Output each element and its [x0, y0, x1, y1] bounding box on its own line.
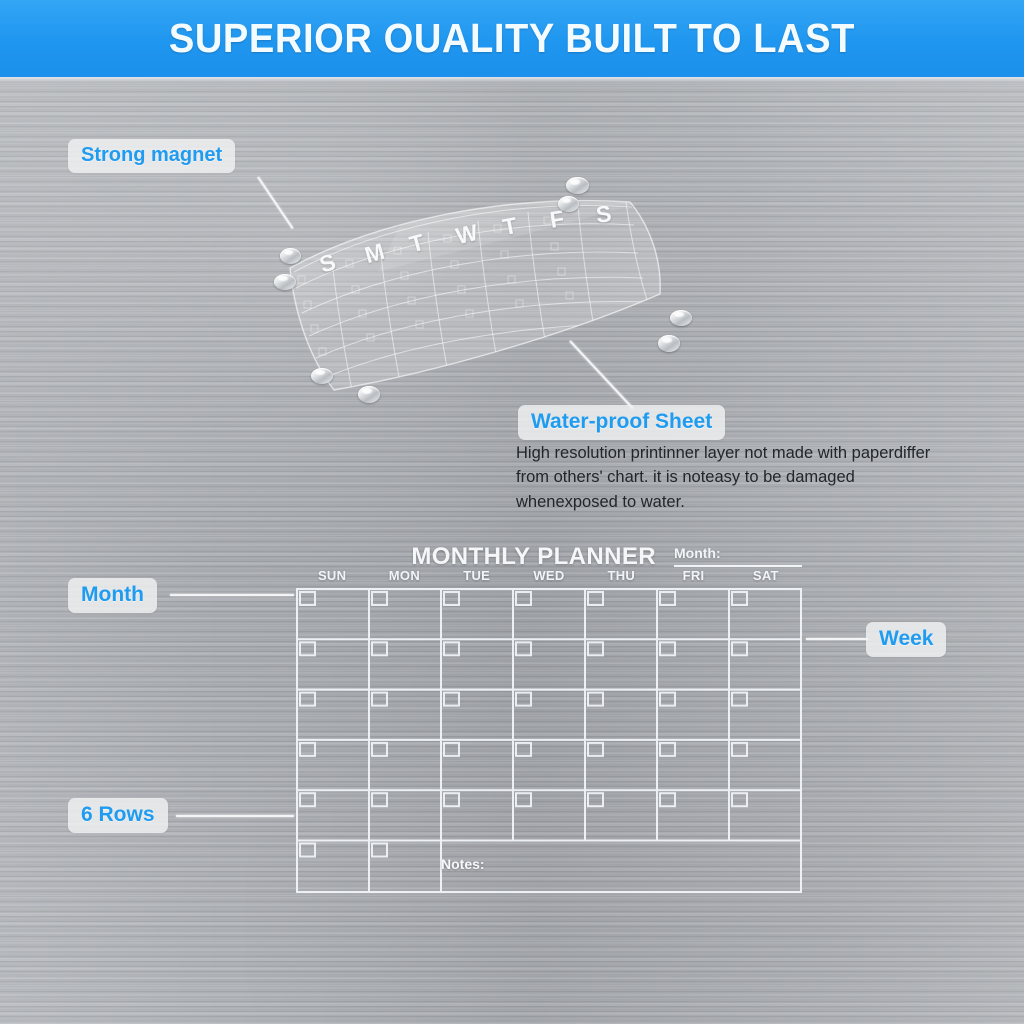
month-field-rule — [674, 565, 802, 567]
month-field[interactable]: Month: — [674, 545, 802, 563]
magnet-pin — [311, 368, 333, 384]
magnet-pin — [358, 386, 380, 403]
callout-month: Month — [68, 578, 157, 613]
callout-strong-magnet: Strong magnet — [68, 139, 235, 173]
callout-water-proof-sheet: Water-proof Sheet — [518, 405, 725, 440]
magnet-pin — [566, 177, 589, 194]
month-field-label: Month: — [674, 545, 721, 561]
callout-six-rows: 6 Rows — [68, 798, 168, 833]
day-header-sat: SAT — [730, 568, 802, 586]
banner-shine-divider — [0, 77, 1024, 83]
planner-title: MONTHLY PLANNER — [296, 543, 656, 571]
header-banner: SUPERIOR OUALITY BUILT TO LAST — [0, 0, 1024, 77]
magnet-pin — [558, 196, 579, 212]
week-leader-line — [806, 638, 868, 640]
magnet-pin — [658, 335, 680, 352]
notes-label: Notes: — [441, 856, 485, 872]
day-header-fri: FRI — [657, 568, 729, 586]
sheet-day-initial: S — [594, 200, 613, 229]
callout-six-rows-label: 6 Rows — [81, 803, 155, 826]
day-header-sun: SUN — [296, 568, 368, 586]
day-header-mon: MON — [368, 568, 440, 586]
callout-water-proof-sheet-label: Water-proof Sheet — [531, 410, 712, 433]
day-header-thu: THU — [585, 568, 657, 586]
day-header-tue: TUE — [441, 568, 513, 586]
acrylic-sheet-illustration: S M T W T F S — [258, 168, 728, 418]
magnet-pin — [670, 310, 692, 326]
day-header-wed: WED — [513, 568, 585, 586]
magnet-pin — [280, 248, 301, 264]
callout-week: Week — [866, 622, 946, 657]
callout-week-label: Week — [879, 627, 933, 650]
month-leader-line — [170, 594, 294, 596]
planner-day-headers: SUN MON TUE WED THU FRI SAT — [296, 568, 802, 586]
callout-strong-magnet-label: Strong magnet — [81, 144, 222, 166]
monthly-planner-grid: Notes: — [296, 588, 802, 893]
product-infographic: SUPERIOR OUALITY BUILT TO LAST — [0, 0, 1024, 1024]
water-proof-description: High resolution printinner layer not mad… — [516, 441, 946, 514]
six-rows-leader-line — [176, 815, 294, 817]
planner-grid-lines — [296, 588, 802, 893]
magnet-pin — [274, 274, 296, 290]
callout-month-label: Month — [81, 583, 144, 606]
banner-title: SUPERIOR OUALITY BUILT TO LAST — [169, 15, 855, 62]
